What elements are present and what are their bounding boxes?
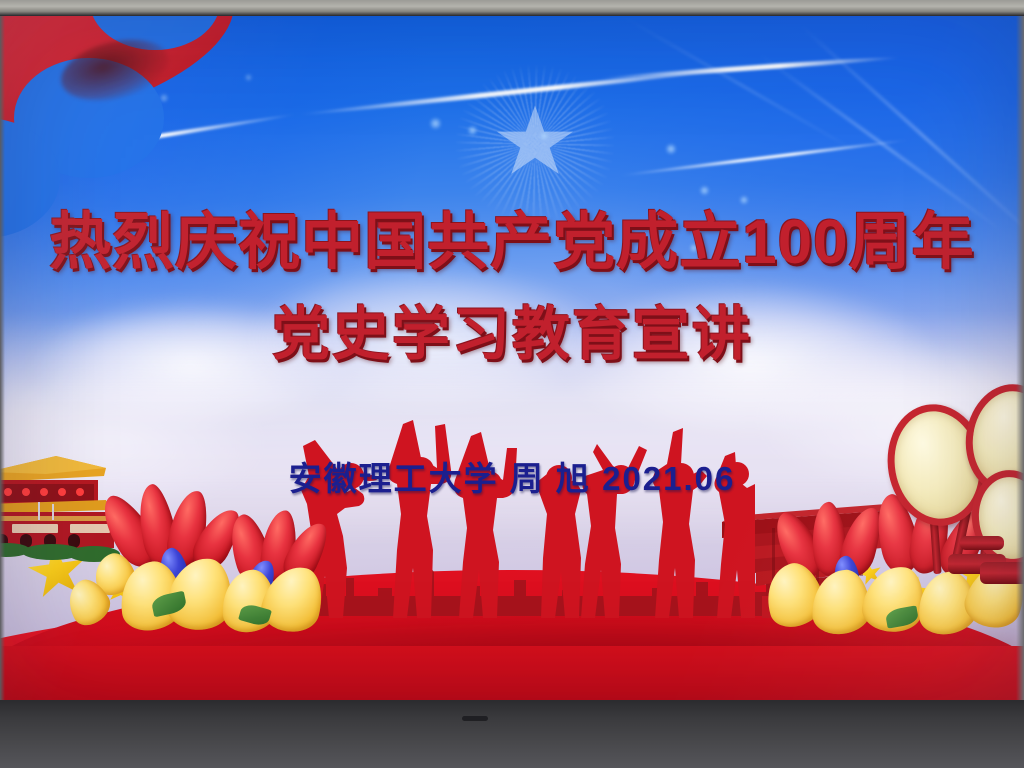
tv-left-edge — [0, 16, 5, 702]
sub-title: 党史学习教育宣讲 — [0, 305, 1024, 366]
tv-top-bezel — [0, 0, 1024, 16]
drum-base — [960, 536, 1004, 550]
celebrating-crowd-silhouette — [285, 418, 755, 618]
bokeh-dot-icon — [540, 132, 548, 140]
bokeh-dot-icon — [666, 144, 676, 154]
presenter-line: 安徽理工大学 周 旭 2021.06 — [0, 452, 1024, 500]
bokeh-dot-icon — [700, 186, 709, 195]
bokeh-dot-icon — [468, 126, 477, 135]
tv-right-edge — [1016, 16, 1024, 702]
peony-cluster-left — [64, 484, 324, 654]
bokeh-dot-icon — [740, 196, 748, 204]
screenshot-stage: 热烈庆祝中国共产党成立100周年 党史学习教育宣讲 安徽理工大学 周 旭 202… — [0, 0, 1024, 768]
main-title: 热烈庆祝中国共产党成立100周年 — [0, 210, 1024, 275]
red-ribbon-banner — [0, 14, 260, 186]
crowd-svg — [285, 418, 755, 618]
bokeh-dot-icon — [430, 118, 441, 129]
tv-bottom-bezel — [0, 700, 1024, 768]
chinese-drums-illustration — [852, 386, 1024, 616]
tv-screen: 热烈庆祝中国共产党成立100周年 党史学习教育宣讲 安徽理工大学 周 旭 202… — [0, 14, 1024, 702]
headline-block: 热烈庆祝中国共产党成立100周年 党史学习教育宣讲 — [0, 210, 1024, 366]
